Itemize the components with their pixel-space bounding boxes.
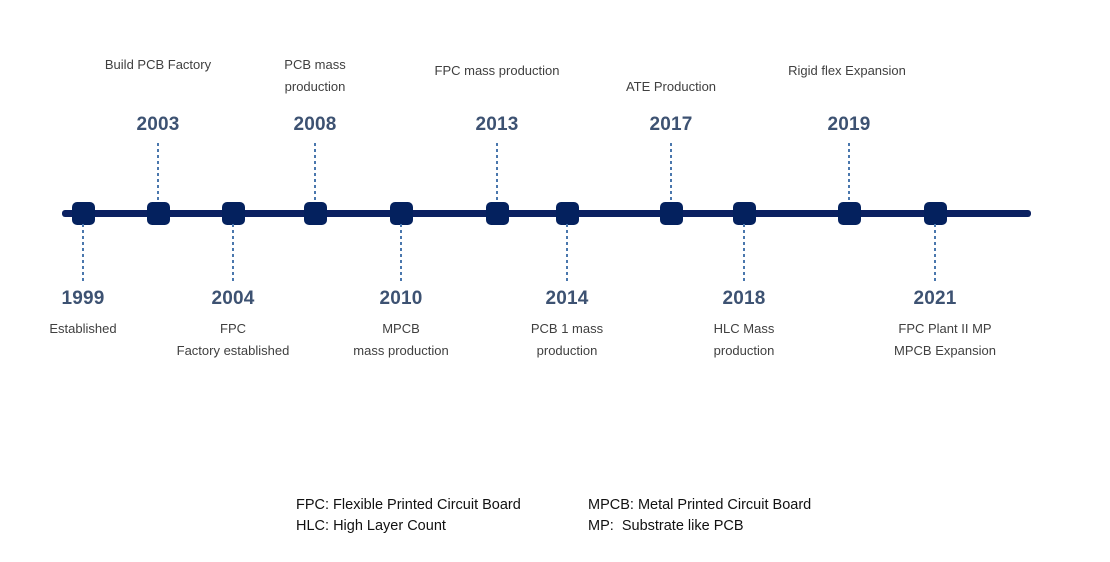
marker-2014 — [556, 202, 579, 225]
marker-2018 — [733, 202, 756, 225]
below-2018-year: 2018 — [684, 288, 804, 310]
above-2017-description: ATE Production — [581, 76, 761, 98]
below-1999-description: Established — [3, 318, 163, 340]
below-2021-description: FPC Plant II MP MPCB Expansion — [850, 318, 1040, 362]
timeline-diagram: Build PCB Factory2003PCB mass production… — [0, 0, 1110, 562]
legend-left-column: FPC: Flexible Printed Circuit Board HLC:… — [296, 495, 521, 537]
connector-below-2010 — [400, 224, 402, 284]
above-2008-year: 2008 — [255, 114, 375, 136]
below-2018-description: HLC Mass production — [664, 318, 824, 362]
below-2004-year: 2004 — [173, 288, 293, 310]
connector-above-2003 — [157, 143, 159, 203]
above-2013-description: FPC mass production — [392, 60, 602, 82]
connector-above-2019 — [848, 143, 850, 203]
marker-1999 — [72, 202, 95, 225]
marker-2004 — [222, 202, 245, 225]
above-2017-year: 2017 — [611, 114, 731, 136]
connector-below-2021 — [934, 224, 936, 284]
above-2013-year: 2013 — [437, 114, 557, 136]
connector-below-2018 — [743, 224, 745, 284]
below-2010-description: MPCB mass production — [321, 318, 481, 362]
below-2004-description: FPC Factory established — [143, 318, 323, 362]
connector-below-1999 — [82, 224, 84, 284]
below-2010-year: 2010 — [341, 288, 461, 310]
below-1999-year: 1999 — [23, 288, 143, 310]
connector-above-2017 — [670, 143, 672, 203]
above-2019-description: Rigid flex Expansion — [747, 60, 947, 82]
above-2008-description: PCB mass production — [240, 54, 390, 98]
marker-2003 — [147, 202, 170, 225]
marker-2013 — [486, 202, 509, 225]
marker-2019 — [838, 202, 861, 225]
marker-2010 — [390, 202, 413, 225]
below-2014-year: 2014 — [507, 288, 627, 310]
marker-2008 — [304, 202, 327, 225]
timeline-axis — [62, 210, 1031, 217]
legend-right-column: MPCB: Metal Printed Circuit Board MP: Su… — [588, 495, 811, 537]
above-2003-description: Build PCB Factory — [58, 54, 258, 76]
below-2021-year: 2021 — [875, 288, 995, 310]
above-2019-year: 2019 — [789, 114, 909, 136]
connector-above-2008 — [314, 143, 316, 203]
marker-2017 — [660, 202, 683, 225]
below-2014-description: PCB 1 mass production — [487, 318, 647, 362]
connector-below-2004 — [232, 224, 234, 284]
above-2003-year: 2003 — [98, 114, 218, 136]
connector-above-2013 — [496, 143, 498, 203]
connector-below-2014 — [566, 224, 568, 284]
marker-2021 — [924, 202, 947, 225]
